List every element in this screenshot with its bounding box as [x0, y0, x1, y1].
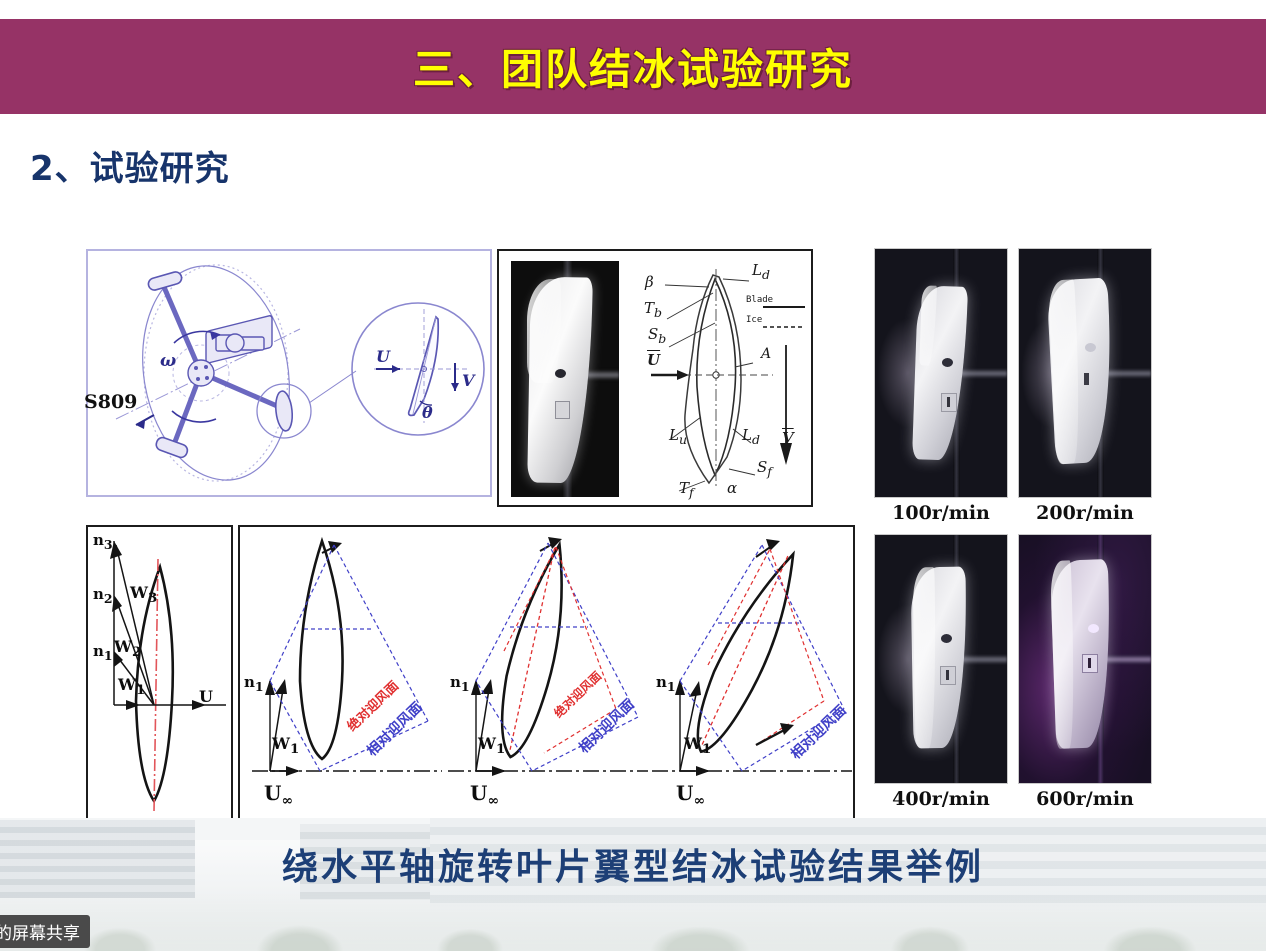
legend-blade-label: Blade — [746, 295, 773, 305]
label-sub3-Uinf-sub: ∞ — [693, 793, 705, 809]
label-W3-sub: 3 — [148, 590, 157, 606]
photo-caption-400: 400r/min — [874, 788, 1008, 810]
label-Sf-sub: f — [767, 464, 772, 479]
label-n3: n3 — [93, 531, 113, 552]
label-U: U — [199, 687, 213, 706]
photo-caption-100: 100r/min — [874, 502, 1008, 524]
figure-ice-shape-definition: β Tb Sb Ld A Lu Ld Sf Tf α U V Blade Ice — [497, 249, 813, 507]
slide-header-bar: 三、团队结冰试验研究 — [0, 19, 1266, 114]
label-sub2-n1: n1 — [450, 673, 470, 694]
label-sub2-W1: W1 — [478, 734, 505, 757]
label-sub1-n1: n1 — [244, 673, 264, 694]
icing-photo-400 — [874, 534, 1008, 784]
photo-caption-200: 200r/min — [1018, 502, 1152, 524]
figure-windward-surface-series: n1 W1 U∞ 绝对迎风面 相对迎风面 — [238, 525, 855, 820]
label-Lu: Lu — [669, 426, 687, 447]
label-n1: n1 — [93, 642, 113, 663]
label-sub2-Uinf: U∞ — [470, 781, 499, 809]
label-sub1-Uinf: U∞ — [264, 781, 293, 809]
label-Sf: Sf — [757, 458, 772, 479]
slide-canvas: 三、团队结冰试验研究 2、试验研究 — [0, 0, 1266, 951]
label-n1-sub: 1 — [104, 648, 113, 663]
label-sub3-W1-sub: 1 — [702, 741, 711, 757]
label-sub1-W1: W1 — [272, 734, 299, 757]
label-sub1-Uinf-sub: ∞ — [281, 793, 293, 809]
ice-geometry-svg — [623, 257, 809, 501]
windward-subpanel-3: n1 W1 U∞ 相对迎风面 — [652, 531, 852, 814]
label-theta-angle: θ — [422, 403, 433, 422]
label-u-velocity: U — [376, 347, 390, 366]
label-sub3-n1: n1 — [656, 673, 676, 694]
label-W2-sub: 2 — [132, 644, 141, 660]
iced-airfoil-photo — [511, 261, 619, 497]
photo-caption-600: 600r/min — [1018, 788, 1152, 810]
label-U-vector: U — [647, 351, 660, 369]
windward-subpanel-1: n1 W1 U∞ 绝对迎风面 相对迎风面 — [242, 531, 442, 814]
label-n2: n2 — [93, 585, 113, 606]
label-sub2-Uinf-sub: ∞ — [487, 793, 499, 809]
screen-share-label: 电的屏幕共享 — [0, 919, 80, 944]
page-title: 三、团队结冰试验研究 — [413, 36, 853, 97]
label-sub1-n1-sub: 1 — [255, 679, 264, 694]
label-Ld-top-sub: d — [762, 267, 770, 282]
figure-caption: 绕水平轴旋转叶片翼型结冰试验结果举例 — [0, 838, 1266, 890]
label-Sb-sub: b — [658, 331, 666, 346]
label-Ld-top: Ld — [752, 261, 770, 282]
windward-subpanel-2: n1 W1 U∞ 绝对迎风面 相对迎风面 — [448, 531, 648, 814]
icing-photo-600 — [1018, 534, 1152, 784]
label-sub1-W1-sub: 1 — [290, 741, 299, 757]
label-s809: S809 — [84, 391, 137, 413]
velocity-triangle-svg — [88, 527, 231, 818]
windward-svg-2 — [448, 531, 648, 814]
label-W1: W1 — [118, 675, 145, 698]
label-sub3-W1: W1 — [684, 734, 711, 757]
legend-ice-label: Ice — [746, 315, 762, 325]
label-sub3-n1-sub: 1 — [667, 679, 676, 694]
label-sub3-Uinf: U∞ — [676, 781, 705, 809]
label-W2: W2 — [114, 637, 141, 660]
label-A: A — [761, 346, 771, 362]
label-Tf-sub: f — [689, 485, 694, 500]
label-sub2-W1-sub: 1 — [496, 741, 505, 757]
label-n3-sub: 3 — [104, 537, 113, 552]
label-Lu-sub: u — [679, 432, 687, 447]
icing-photo-200 — [1018, 248, 1152, 498]
figure-velocity-triangle: n3 n2 n1 W3 W2 W1 U — [86, 525, 233, 820]
photo-cell-100: 100r/min — [874, 248, 1008, 528]
figure-rotor-schematic: S809 ω U V θ — [86, 249, 492, 497]
icing-photo-100 — [874, 248, 1008, 498]
label-n2-sub: 2 — [104, 591, 113, 606]
windward-svg-1 — [242, 531, 442, 814]
label-V-vector: V — [782, 429, 794, 447]
label-Tb-sub: b — [654, 305, 662, 320]
label-Ld-bottom: Ld — [742, 426, 760, 447]
label-alpha: α — [727, 479, 737, 497]
label-omega: ω — [160, 351, 176, 371]
label-Ld-bottom-sub: d — [752, 432, 760, 447]
section-heading: 2、试验研究 — [30, 141, 230, 190]
label-v-velocity: V — [462, 371, 474, 390]
label-beta: β — [645, 273, 654, 291]
photo-cell-400: 400r/min — [874, 534, 1008, 814]
label-Sb: Sb — [648, 325, 666, 346]
photo-cell-600: 600r/min — [1018, 534, 1152, 814]
label-sub2-n1-sub: 1 — [461, 679, 470, 694]
label-Tb: Tb — [644, 299, 662, 320]
label-W1-sub: 1 — [136, 682, 145, 698]
label-Tf: Tf — [679, 479, 694, 500]
label-W3: W3 — [130, 583, 157, 606]
windward-svg-3 — [652, 531, 852, 814]
photo-cell-200: 200r/min — [1018, 248, 1152, 528]
rotor-schematic-svg — [88, 251, 490, 495]
screen-share-indicator[interactable]: 电的屏幕共享 — [0, 915, 90, 948]
